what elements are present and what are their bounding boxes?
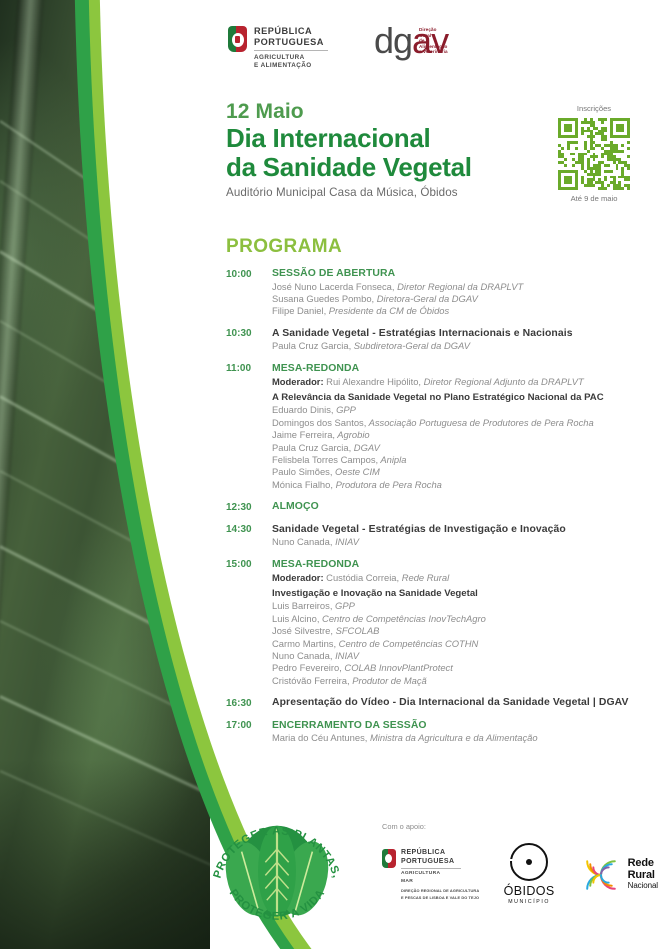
programa-speaker: Luis Alcino, Centro de Competências Inov…	[272, 613, 646, 625]
programa-row-heading: MESA-REDONDA	[272, 558, 646, 572]
programa-row-time: 17:00	[226, 719, 272, 745]
programa-row-heading: MESA-REDONDA	[272, 362, 646, 376]
portugal-shield-icon	[382, 849, 396, 868]
republica-portuguesa-logo: REPÚBLICA PORTUGUESA AGRICULTURA E ALIME…	[228, 26, 328, 69]
programa-row-heading: Sanidade Vegetal - Estratégias de Invest…	[272, 523, 646, 537]
programa-row-time: 16:30	[226, 696, 272, 710]
dgav-sub-line3: e Veterinária	[419, 49, 448, 54]
programa-row-time: 11:00	[226, 362, 272, 491]
republica-line1: REPÚBLICA	[254, 26, 328, 37]
programa-row-time: 15:00	[226, 558, 272, 687]
dgav-subtitle: Direção Geral de Alimentação e Veterinár…	[419, 27, 448, 55]
republica-line3: AGRICULTURA	[254, 54, 328, 62]
programa-row-body: A Sanidade Vegetal - Estratégias Interna…	[272, 327, 646, 353]
programa-moderator: Moderador: Custódia Correia, Rede Rural	[272, 571, 646, 584]
leaf-shadow	[0, 759, 210, 949]
rede-line3: Nacional	[628, 881, 658, 891]
divider	[401, 868, 461, 869]
support-logos-section: Com o apoio: REPÚBLICA PORTUGUESA AGRICU…	[382, 822, 658, 906]
support-republica-line2: PORTUGUESA	[401, 858, 479, 866]
republica-line2: PORTUGUESA	[254, 37, 328, 48]
programa-row-heading: SESSÃO DE ABERTURA	[272, 267, 646, 281]
programa-row-time: 14:30	[226, 523, 272, 549]
programa-row-time: 12:30	[226, 500, 272, 514]
programa-row-heading: ENCERRAMENTO DA SESSÃO	[272, 719, 646, 733]
programa-speaker: Nuno Canada, INIAV	[272, 536, 646, 548]
programa-row-heading: ALMOÇO	[272, 500, 646, 514]
rede-line1: Rede	[628, 858, 658, 869]
obidos-municipio-logo: ÓBIDOS MUNICÍPIO	[497, 843, 562, 906]
programa-speaker: Paulo Simões, Oeste CIM	[272, 466, 646, 478]
programa-row-body: ENCERRAMENTO DA SESSÃOMaria do Céu Antun…	[272, 719, 646, 745]
programa-rows: 10:00SESSÃO DE ABERTURAJosé Nuno Lacerda…	[226, 267, 646, 745]
rede-rural-pinwheel-icon	[578, 852, 624, 898]
programa-speaker: Pedro Fevereiro, COLAB InnovPlantProtect	[272, 662, 646, 674]
programa-row-body: MESA-REDONDAModerador: Custódia Correia,…	[272, 558, 646, 687]
programa-speaker: José Silvestre, SFCOLAB	[272, 625, 646, 637]
programa-section: PROGRAMA 10:00SESSÃO DE ABERTURAJosé Nun…	[226, 236, 646, 754]
programa-row: 17:00ENCERRAMENTO DA SESSÃOMaria do Céu …	[226, 719, 646, 745]
header-logos: REPÚBLICA PORTUGUESA AGRICULTURA E ALIME…	[228, 26, 448, 69]
programa-row-body: SESSÃO DE ABERTURAJosé Nuno Lacerda Fons…	[272, 267, 646, 318]
event-title-line1: Dia Internacional	[226, 124, 526, 153]
programa-speaker: Felisbela Torres Campos, Aniplа	[272, 454, 646, 466]
programa-row: 12:30ALMOÇO	[226, 500, 646, 514]
programa-row-body: Sanidade Vegetal - Estratégias de Invest…	[272, 523, 646, 549]
programa-speaker: Domingos dos Santos, Associação Portugue…	[272, 417, 646, 429]
rede-rural-nacional-logo: Rede Rural Nacional	[578, 852, 658, 898]
programa-speaker: Maria do Céu Antunes, Ministra da Agricu…	[272, 732, 646, 744]
programa-speaker: Carmo Martins, Centro de Competências CO…	[272, 638, 646, 650]
programa-speaker: Jaime Ferreira, Agrobio	[272, 429, 646, 441]
support-republica-line1: REPÚBLICA	[401, 849, 479, 857]
qr-caption-bottom: Até 9 de maio	[548, 194, 640, 204]
dgav-dg: dg	[374, 26, 412, 56]
portugal-shield-icon	[228, 26, 247, 52]
programa-row-body: Apresentação do Vídeo - Dia Internaciona…	[272, 696, 646, 710]
republica-line4: E ALIMENTAÇÃO	[254, 62, 328, 70]
programa-speaker: José Nuno Lacerda Fonseca, Diretor Regio…	[272, 281, 646, 293]
programa-row: 15:00MESA-REDONDAModerador: Custódia Cor…	[226, 558, 646, 687]
programa-row-heading: Apresentação do Vídeo - Dia Internaciona…	[272, 696, 646, 710]
programa-row: 11:00MESA-REDONDAModerador: Rui Alexandr…	[226, 362, 646, 491]
programa-speaker: Paula Cruz Garcia, Subdiretora-Geral da …	[272, 340, 646, 352]
programa-moderator: Moderador: Rui Alexandre Hipólito, Diret…	[272, 375, 646, 388]
obidos-circle-icon	[510, 843, 548, 881]
programa-sub-heading: A Relevância da Sanidade Vegetal no Plan…	[272, 391, 646, 404]
proteger-as-plantas-emblem: PROTEGER AS PLANTAS, PROTEGER A VIDA	[204, 798, 350, 944]
dgav-logo: dg av Direção Geral de Alimentação e Vet…	[374, 26, 448, 56]
programa-speaker: Luis Barreiros, GPP	[272, 600, 646, 612]
drap-lvt-logo: REPÚBLICA PORTUGUESA AGRICULTURA MAR DIR…	[382, 849, 481, 899]
programa-row: 10:00SESSÃO DE ABERTURAJosé Nuno Lacerda…	[226, 267, 646, 318]
event-venue: Auditório Municipal Casa da Música, Óbid…	[226, 185, 526, 200]
programa-row: 16:30Apresentação do Vídeo - Dia Interna…	[226, 696, 646, 710]
support-republica-line5: DIREÇÃO REGIONAL DE AGRICULTURA	[401, 888, 479, 893]
programa-row: 14:30Sanidade Vegetal - Estratégias de I…	[226, 523, 646, 549]
programa-sub-heading: Investigação e Inovação na Sanidade Vege…	[272, 587, 646, 600]
obidos-sub: MUNICÍPIO	[497, 899, 562, 906]
programa-heading: PROGRAMA	[226, 236, 646, 258]
programa-row-body: ALMOÇO	[272, 500, 646, 514]
programa-speaker: Filipe Daniel, Presidente da CM de Óbido…	[272, 305, 646, 317]
programa-speaker: Mónica Fialho, Produtora de Pera Rocha	[272, 479, 646, 491]
programa-row-body: MESA-REDONDAModerador: Rui Alexandre Hip…	[272, 362, 646, 491]
programa-row-time: 10:00	[226, 267, 272, 318]
event-date: 12 Maio	[226, 100, 526, 124]
programa-speaker: Susana Guedes Pombo, Diretora-Geral da D…	[272, 293, 646, 305]
title-block: 12 Maio Dia Internacional da Sanidade Ve…	[226, 100, 526, 200]
qr-caption-top: Inscrições	[548, 104, 640, 114]
obidos-name: ÓBIDOS	[497, 885, 562, 898]
rede-line2: Rural	[628, 870, 658, 881]
poster-canvas: REPÚBLICA PORTUGUESA AGRICULTURA E ALIME…	[0, 0, 663, 949]
support-caption: Com o apoio:	[382, 822, 658, 832]
programa-speaker: Paula Cruz Garcia, DGAV	[272, 442, 646, 454]
programa-speaker: Nuno Canada, INIAV	[272, 650, 646, 662]
programa-row-heading: A Sanidade Vegetal - Estratégias Interna…	[272, 327, 646, 341]
registration-qr-block[interactable]: Inscrições Até 9 de maio	[548, 104, 640, 204]
divider	[254, 50, 328, 51]
programa-speaker: Eduardo Dinis, GPP	[272, 404, 646, 416]
dgav-sub-line2: de Alimentação	[419, 38, 447, 49]
dgav-sub-line1: Direção Geral	[419, 27, 437, 38]
programa-speaker: Cristóvão Ferreira, Produtor de Maçã	[272, 675, 646, 687]
programa-row-time: 10:30	[226, 327, 272, 353]
support-republica-line4: MAR	[401, 879, 479, 885]
qr-code[interactable]	[558, 118, 630, 190]
support-republica-line3: AGRICULTURA	[401, 871, 479, 877]
support-republica-line6: E PESCAS DE LISBOA E VALE DO TEJO	[401, 895, 479, 900]
event-title-line2: da Sanidade Vegetal	[226, 153, 526, 182]
programa-row: 10:30A Sanidade Vegetal - Estratégias In…	[226, 327, 646, 353]
